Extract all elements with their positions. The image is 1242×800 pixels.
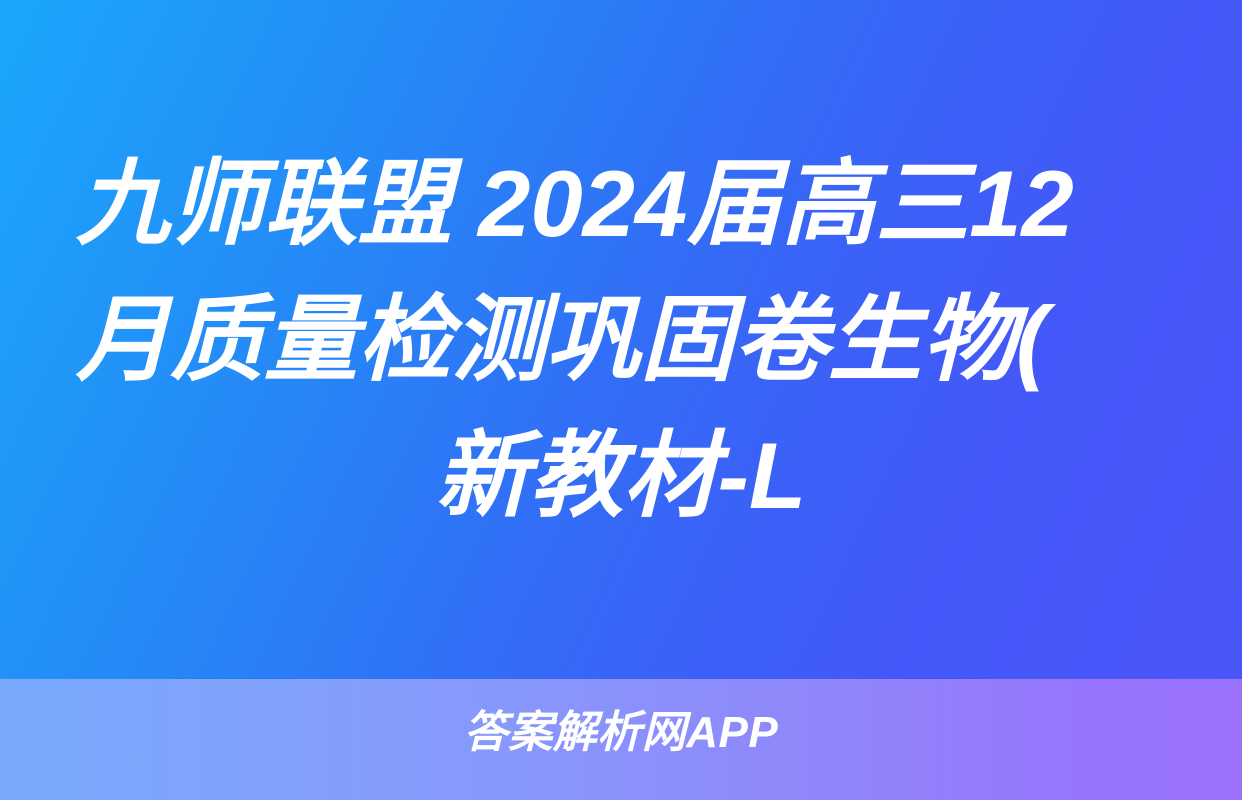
title-line-3: 新教材-L <box>76 408 1166 544</box>
title-line-1: 九师联盟 2024届高三12 <box>76 136 1166 272</box>
watermark: 答案解析网APP <box>0 679 1242 800</box>
watermark-text: 答案解析网APP <box>464 707 778 759</box>
exam-cover-banner: 九师联盟 2024届高三12 月质量检测巩固卷生物( 新教材-L 答案解析网AP… <box>0 0 1242 800</box>
title-line-2: 月质量检测巩固卷生物( <box>76 272 1166 408</box>
title-block: 九师联盟 2024届高三12 月质量检测巩固卷生物( 新教材-L <box>0 0 1242 679</box>
